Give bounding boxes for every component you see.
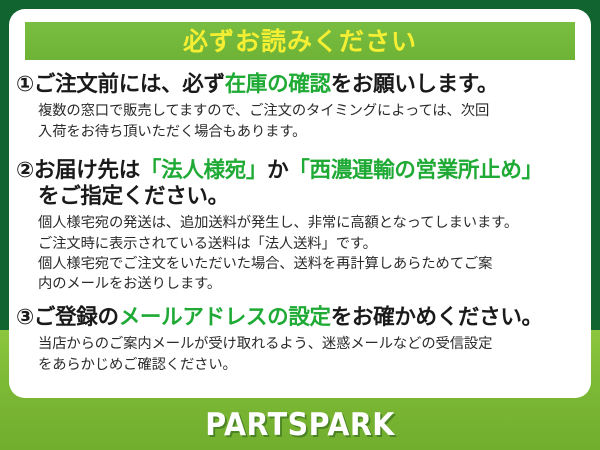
- item-1-head-emphasis: 在庫の確認: [225, 72, 331, 97]
- item-2-heading: ②お届け先は「法人様宛」か「西濃運輸の営業所止め」をご指定ください。: [16, 158, 588, 210]
- item-2-body-line-3: 個人様宅宛でご注文をいただいた場合、送料を再計算しあらためてご案: [38, 254, 588, 274]
- item-1-head-pre: ご注文前には、必ず: [34, 72, 225, 97]
- item-1-body-line-1: 複数の窓口で販売してますので、ご注文のタイミングによっては、次回: [38, 101, 588, 121]
- item-2-body-line-4: 内のメールをお送りします。: [38, 274, 588, 294]
- header-title: 必ずお読みください: [183, 29, 417, 54]
- item-2-head-emphasis-1: 「法人様宛」: [140, 158, 267, 183]
- item-3-body-line-2: をあらかじめご確認ください。: [38, 355, 588, 375]
- item-2-body-line-2: ご注文時に表示されている送料は「法人送料」です。: [38, 234, 588, 254]
- item-2-head-pre: お届け先は: [34, 158, 140, 183]
- notice-item-2: ②お届け先は「法人様宛」か「西濃運輸の営業所止め」をご指定ください。 個人様宅宛…: [16, 158, 588, 295]
- item-2-body-line-1: 個人様宅宛の発送は、追加送料が発生し、非常に高額となってしまいます。: [38, 213, 588, 233]
- notice-item-1: ①ご注文前には、必ず在庫の確認をお願いします。 複数の窓口で販売してますので、ご…: [16, 72, 588, 142]
- item-1-body: 複数の窓口で販売してますので、ご注文のタイミングによっては、次回 入荷をお待ち頂…: [16, 101, 588, 142]
- item-1-heading: ①ご注文前には、必ず在庫の確認をお願いします。: [16, 72, 588, 98]
- item-3-head-pre: ご登録の: [34, 305, 119, 330]
- notice-banner: 必ずお読みください ①ご注文前には、必ず在庫の確認をお願いします。 複数の窓口で…: [0, 0, 600, 450]
- header-bar: 必ずお読みください: [25, 22, 575, 60]
- item-1-body-line-2: 入荷をお待ち頂いただく場合もあります。: [38, 122, 588, 142]
- item-2-head-mid: か: [267, 158, 288, 183]
- notice-item-3: ③ご登録のメールアドレスの設定をお確かめください。 当店からのご案内メールが受け…: [16, 305, 588, 375]
- item-2-head-line-2: をご指定ください。: [16, 184, 588, 210]
- item-1-head-post: をお願いします。: [331, 72, 498, 97]
- item-1-marker: ①: [16, 72, 34, 97]
- item-2-marker: ②: [16, 158, 34, 183]
- item-3-head-post: をお確かめください。: [331, 305, 543, 330]
- item-3-marker: ③: [16, 305, 34, 330]
- item-3-heading: ③ご登録のメールアドレスの設定をお確かめください。: [16, 305, 588, 331]
- brand-logo: PARTSPARK: [0, 400, 600, 450]
- item-3-head-emphasis: メールアドレスの設定: [119, 305, 331, 330]
- item-3-body: 当店からのご案内メールが受け取れるよう、迷惑メールなどの受信設定 をあらかじめご…: [16, 334, 588, 375]
- brand-name: PARTSPARK: [205, 410, 395, 441]
- item-2-body: 個人様宅宛の発送は、追加送料が発生し、非常に高額となってしまいます。 ご注文時に…: [16, 213, 588, 294]
- item-2-head-emphasis-2: 「西濃運輸の営業所止め」: [288, 158, 542, 183]
- item-3-body-line-1: 当店からのご案内メールが受け取れるよう、迷惑メールなどの受信設定: [38, 334, 588, 354]
